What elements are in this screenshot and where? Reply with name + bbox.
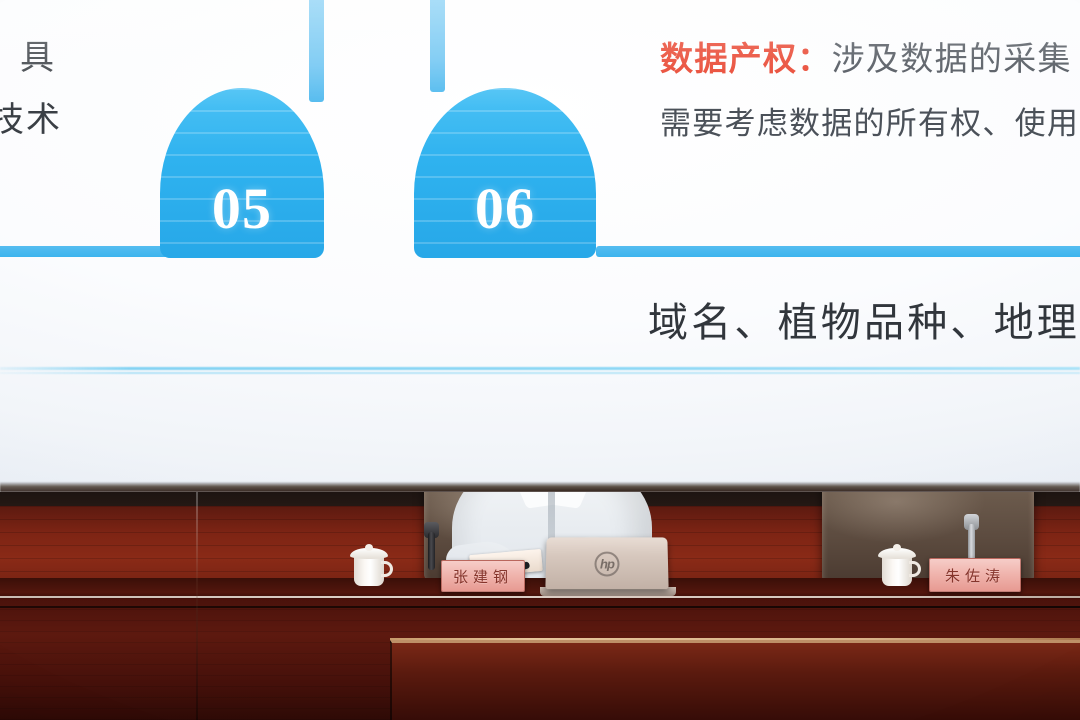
teacup-handle [909,561,921,577]
laptop-hp: hp [545,537,668,589]
microphone-stem [968,524,975,562]
step-baseline-left [0,246,170,257]
microphone-left [424,532,440,572]
slide-paragraph-line2: 需要考虑数据的所有权、使用 [660,98,1079,143]
name-card-left-text: 张建钢 [453,566,513,587]
projection-screen: 05 06 、具 技术 数据产权：涉及数据的采集 需要考虑数据的所有权、使用 域… [0,0,1080,492]
teacup-left [348,544,394,590]
step-baseline-right [596,246,1080,257]
hp-logo-icon: hp [594,552,619,577]
step-dome-06: 06 [414,88,596,258]
slide-left-text-line1: 、具 [0,30,56,79]
screen-bottom-edge [0,482,1080,492]
step-stem-06 [430,0,445,92]
conference-room: hp 张建钢 朱佐涛 [0,492,1080,720]
table-vertical-seam [196,492,198,720]
podium-front [390,640,1080,720]
slide-red-heading: 数据产权：涉及数据的采集 [660,32,1072,80]
screenshot-root: 05 06 、具 技术 数据产权：涉及数据的采集 需要考虑数据的所有权、使用 域… [0,0,1080,720]
step-stem-05 [309,0,324,102]
name-card-right: 朱佐涛 [929,558,1021,592]
teacup-handle [381,561,393,577]
microphone-stem [428,532,435,570]
slide-red-heading-label: 数据产权： [660,42,832,78]
slide-red-heading-rest: 涉及数据的采集 [832,42,1072,78]
step-number-05: 05 [160,175,324,242]
name-card-left: 张建钢 [441,560,525,592]
teacup-knob [365,544,373,551]
step-shape-05: 05 [160,88,324,258]
teacup-knob [893,544,901,551]
step-dome-05: 05 [160,88,324,258]
table-seam-line [0,606,1080,608]
teacup-right [876,544,922,590]
slide-cyan-rule-upper [0,367,1080,370]
slide-bottom-line: 域名、植物品种、地理 [648,290,1080,348]
slide-cyan-rule-lower [0,372,1080,374]
step-number-06: 06 [414,175,596,242]
name-card-right-text: 朱佐涛 [945,565,1005,586]
step-shape-06: 06 [414,88,596,258]
slide-left-text-line2: 技术 [0,92,62,141]
